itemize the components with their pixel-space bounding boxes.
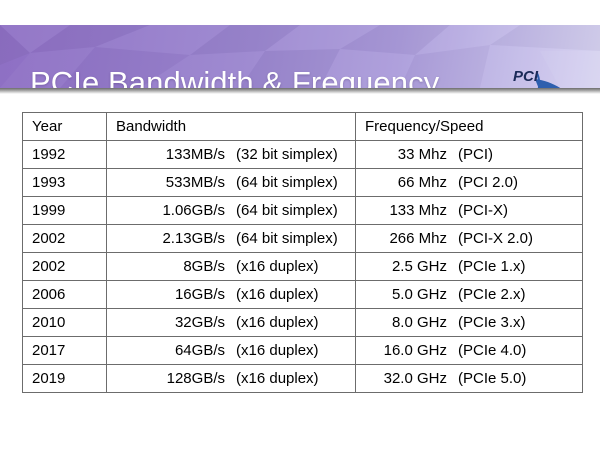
bandwidth-detail: (64 bit simplex) [225, 230, 338, 247]
column-header-year: Year [23, 113, 107, 141]
cell-frequency: 266 Mhz (PCI-X 2.0) [356, 225, 583, 253]
frequency-detail: (PCI 2.0) [447, 174, 518, 191]
year-value: 1992 [23, 146, 106, 163]
frequency-detail: (PCI-X) [447, 202, 508, 219]
frequency-value: 8.0 GHz [356, 314, 447, 331]
bandwidth-value: 32GB/s [107, 314, 225, 331]
cell-bandwidth: 2.13GB/s (64 bit simplex) [107, 225, 356, 253]
cell-year: 2019 [23, 365, 107, 393]
cell-year: 1993 [23, 169, 107, 197]
column-header-bandwidth: Bandwidth [107, 113, 356, 141]
bandwidth-value: 1.06GB/s [107, 202, 225, 219]
year-value: 2010 [23, 314, 106, 331]
table-row: 2002 8GB/s (x16 duplex) 2.5 GHz (PCIe 1.… [23, 253, 583, 281]
frequency-detail: (PCI) [447, 146, 493, 163]
frequency-value: 266 Mhz [356, 230, 447, 247]
cell-bandwidth: 32GB/s (x16 duplex) [107, 309, 356, 337]
cell-frequency: 33 Mhz (PCI) [356, 141, 583, 169]
frequency-detail: (PCIe 4.0) [447, 342, 526, 359]
column-header-bandwidth-label: Bandwidth [107, 118, 355, 135]
cell-year: 2010 [23, 309, 107, 337]
cell-year: 1999 [23, 197, 107, 225]
frequency-detail: (PCIe 2.x) [447, 286, 526, 303]
table-row: 2006 16GB/s (x16 duplex) 5.0 GHz (PCIe 2… [23, 281, 583, 309]
bandwidth-value: 533MB/s [107, 174, 225, 191]
table-row: 1993 533MB/s (64 bit simplex) 66 Mhz (PC… [23, 169, 583, 197]
slide-header-banner: PCIe Bandwidth & Frequency PCI SIG [0, 25, 600, 88]
cell-year: 2002 [23, 253, 107, 281]
bandwidth-value: 8GB/s [107, 258, 225, 275]
column-header-frequency: Frequency/Speed [356, 113, 583, 141]
table-row: 2010 32GB/s (x16 duplex) 8.0 GHz (PCIe 3… [23, 309, 583, 337]
frequency-value: 5.0 GHz [356, 286, 447, 303]
year-value: 1993 [23, 174, 106, 191]
frequency-detail: (PCI-X 2.0) [447, 230, 533, 247]
year-value: 2017 [23, 342, 106, 359]
cell-bandwidth: 128GB/s (x16 duplex) [107, 365, 356, 393]
cell-bandwidth: 8GB/s (x16 duplex) [107, 253, 356, 281]
frequency-value: 33 Mhz [356, 146, 447, 163]
cell-year: 2017 [23, 337, 107, 365]
cell-bandwidth: 64GB/s (x16 duplex) [107, 337, 356, 365]
cell-frequency: 32.0 GHz (PCIe 5.0) [356, 365, 583, 393]
cell-bandwidth: 133MB/s (32 bit simplex) [107, 141, 356, 169]
cell-frequency: 133 Mhz (PCI-X) [356, 197, 583, 225]
year-value: 2002 [23, 258, 106, 275]
bandwidth-value: 133MB/s [107, 146, 225, 163]
frequency-value: 133 Mhz [356, 202, 447, 219]
table-row: 2017 64GB/s (x16 duplex) 16.0 GHz (PCIe … [23, 337, 583, 365]
table-row: 2019 128GB/s (x16 duplex) 32.0 GHz (PCIe… [23, 365, 583, 393]
table-row: 2002 2.13GB/s (64 bit simplex) 266 Mhz (… [23, 225, 583, 253]
pcie-spec-table: Year Bandwidth Frequency/Speed 1992 133M… [22, 112, 583, 393]
cell-frequency: 5.0 GHz (PCIe 2.x) [356, 281, 583, 309]
bandwidth-value: 2.13GB/s [107, 230, 225, 247]
bandwidth-value: 128GB/s [107, 370, 225, 387]
page-title: PCIe Bandwidth & Frequency [30, 65, 439, 88]
bandwidth-detail: (x16 duplex) [225, 342, 319, 359]
cell-year: 1992 [23, 141, 107, 169]
banner-drop-shadow [0, 88, 600, 94]
cell-frequency: 66 Mhz (PCI 2.0) [356, 169, 583, 197]
year-value: 2002 [23, 230, 106, 247]
pci-sig-logo: PCI SIG [505, 63, 585, 88]
column-header-year-label: Year [23, 118, 106, 135]
bandwidth-detail: (64 bit simplex) [225, 174, 338, 191]
bandwidth-detail: (x16 duplex) [225, 370, 319, 387]
spec-table-container: Year Bandwidth Frequency/Speed 1992 133M… [22, 112, 582, 393]
table-row: 1992 133MB/s (32 bit simplex) 33 Mhz (PC… [23, 141, 583, 169]
cell-year: 2006 [23, 281, 107, 309]
year-value: 2006 [23, 286, 106, 303]
svg-text:PCI: PCI [513, 68, 539, 85]
frequency-value: 66 Mhz [356, 174, 447, 191]
cell-bandwidth: 533MB/s (64 bit simplex) [107, 169, 356, 197]
frequency-detail: (PCIe 5.0) [447, 370, 526, 387]
year-value: 1999 [23, 202, 106, 219]
cell-frequency: 16.0 GHz (PCIe 4.0) [356, 337, 583, 365]
frequency-value: 32.0 GHz [356, 370, 447, 387]
cell-frequency: 2.5 GHz (PCIe 1.x) [356, 253, 583, 281]
frequency-value: 16.0 GHz [356, 342, 447, 359]
bandwidth-detail: (64 bit simplex) [225, 202, 338, 219]
column-header-frequency-label: Frequency/Speed [356, 118, 582, 135]
bandwidth-detail: (32 bit simplex) [225, 146, 338, 163]
frequency-detail: (PCIe 3.x) [447, 314, 526, 331]
year-value: 2019 [23, 370, 106, 387]
bandwidth-detail: (x16 duplex) [225, 314, 319, 331]
bandwidth-detail: (x16 duplex) [225, 286, 319, 303]
bandwidth-value: 64GB/s [107, 342, 225, 359]
cell-bandwidth: 16GB/s (x16 duplex) [107, 281, 356, 309]
cell-year: 2002 [23, 225, 107, 253]
bandwidth-detail: (x16 duplex) [225, 258, 319, 275]
cell-frequency: 8.0 GHz (PCIe 3.x) [356, 309, 583, 337]
bandwidth-value: 16GB/s [107, 286, 225, 303]
frequency-detail: (PCIe 1.x) [447, 258, 526, 275]
frequency-value: 2.5 GHz [356, 258, 447, 275]
table-header-row: Year Bandwidth Frequency/Speed [23, 113, 583, 141]
cell-bandwidth: 1.06GB/s (64 bit simplex) [107, 197, 356, 225]
table-row: 1999 1.06GB/s (64 bit simplex) 133 Mhz (… [23, 197, 583, 225]
